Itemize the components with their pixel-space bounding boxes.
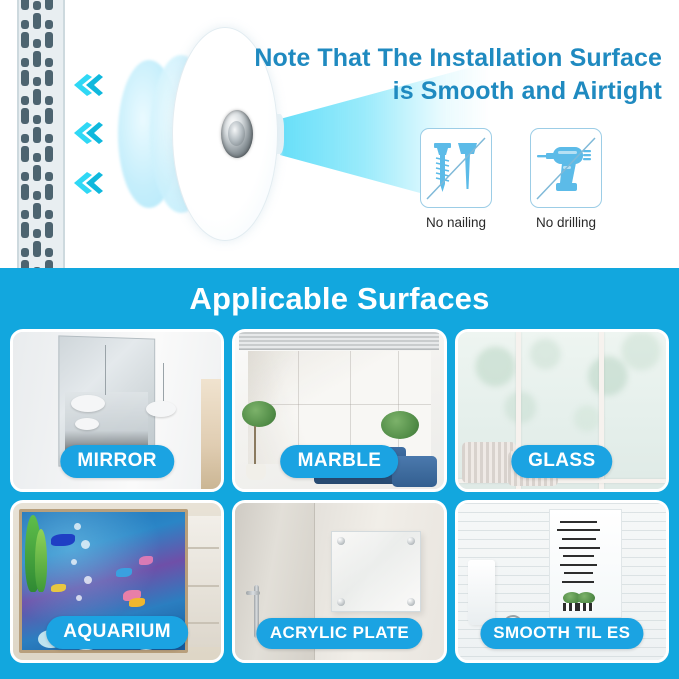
brick — [21, 260, 29, 268]
brick — [33, 127, 41, 143]
surfaces-grid: MIRROR — [10, 329, 669, 663]
applicable-surfaces-section: Applicable Surfaces MIRROR — [0, 268, 679, 679]
installation-note-section: Note That The Installation Surface is Sm… — [0, 0, 679, 268]
surface-label-mirror: MIRROR — [60, 445, 173, 478]
surface-card-aquarium[interactable]: AQUARIUM — [10, 500, 224, 663]
brick — [21, 146, 29, 162]
brick — [21, 248, 29, 257]
headline-line-2: is Smooth and Airtight — [200, 75, 662, 108]
brick — [33, 77, 41, 86]
brick — [45, 20, 53, 29]
brick — [33, 229, 41, 238]
headline-line-1: Note That The Installation Surface — [200, 42, 662, 75]
brick — [45, 58, 53, 67]
surface-label-tiles: SMOOTH TIL ES — [480, 618, 643, 649]
brick — [33, 165, 41, 181]
brick — [45, 96, 53, 105]
brick — [21, 172, 29, 181]
brick — [45, 70, 53, 86]
brick — [45, 248, 53, 257]
screw-nail-prohibited-icon — [420, 128, 492, 208]
brick — [33, 241, 41, 257]
page-title: Note That The Installation Surface is Sm… — [200, 42, 662, 107]
brick — [21, 20, 29, 29]
brick — [45, 184, 53, 200]
power-drill-prohibited-icon — [530, 128, 602, 208]
surface-card-glass[interactable]: GLASS — [455, 329, 669, 492]
brick — [33, 13, 41, 29]
brick — [33, 51, 41, 67]
brick — [21, 0, 29, 10]
surface-label-acrylic: ACRYLIC PLATE — [257, 618, 422, 649]
brick — [21, 32, 29, 48]
brick — [45, 32, 53, 48]
brick — [45, 134, 53, 143]
surface-label-glass: GLASS — [511, 445, 612, 478]
brick — [45, 260, 53, 268]
suction-cup-metal-knob — [221, 110, 253, 158]
restriction-caption-no-drilling: No drilling — [525, 215, 607, 230]
surface-label-marble: MARBLE — [281, 445, 399, 478]
section-title: Applicable Surfaces — [0, 281, 679, 317]
brick — [21, 210, 29, 219]
surface-card-marble[interactable]: MARBLE — [232, 329, 446, 492]
restriction-no-nailing: No nailing — [415, 128, 497, 230]
brick — [45, 108, 53, 124]
brick — [33, 203, 41, 219]
brick — [45, 210, 53, 219]
chevron-left-double-icon-2 — [70, 120, 104, 146]
brick — [21, 58, 29, 67]
chevron-left-double-icon-1 — [70, 72, 104, 98]
restriction-icons: No nailing — [415, 128, 665, 230]
brick — [33, 89, 41, 105]
product-infographic: Note That The Installation Surface is Sm… — [0, 0, 679, 679]
brick — [21, 134, 29, 143]
restriction-no-drilling: No drilling — [525, 128, 607, 230]
brick — [45, 0, 53, 10]
brick — [33, 1, 41, 10]
brick — [21, 222, 29, 238]
brick — [33, 191, 41, 200]
surface-card-acrylic[interactable]: ACRYLIC PLATE — [232, 500, 446, 663]
brick-wall-graphic — [17, 0, 65, 268]
chevron-left-double-icon-3 — [70, 170, 104, 196]
surface-card-tiles[interactable]: SMOOTH TIL ES — [455, 500, 669, 663]
brick — [21, 184, 29, 200]
brick — [21, 70, 29, 86]
brick — [21, 108, 29, 124]
brick — [33, 115, 41, 124]
brick — [45, 172, 53, 181]
restriction-caption-no-nailing: No nailing — [415, 215, 497, 230]
brick — [33, 39, 41, 48]
brick — [45, 146, 53, 162]
brick — [33, 153, 41, 162]
surface-label-aquarium: AQUARIUM — [46, 616, 188, 649]
surface-card-mirror[interactable]: MIRROR — [10, 329, 224, 492]
brick — [21, 96, 29, 105]
brick — [45, 222, 53, 238]
